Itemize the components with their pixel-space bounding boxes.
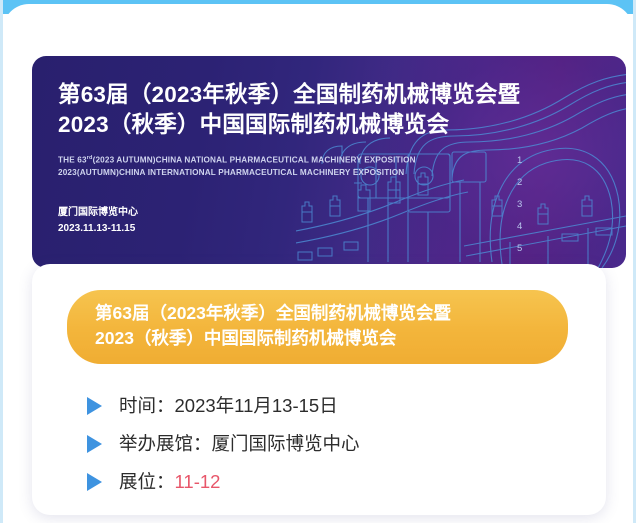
triangle-bullet-icon [87, 397, 102, 415]
banner-subtitle-block: THE 63rd(2023 AUTUMN)CHINA NATIONAL PHAR… [58, 154, 488, 180]
detail-time-value: 2023年11月13-15日 [175, 395, 338, 416]
event-info-card: 第63届（2023年秋季）全国制药机械博览会暨 2023（秋季）中国国际制药机械… [32, 264, 606, 515]
detail-booth: 展位：11-12 [119, 473, 220, 492]
banner-venue-block: 厦门国际博览中心 2023.11.13-11.15 [58, 205, 488, 237]
detail-booth-value: 11-12 [175, 471, 221, 492]
detail-venue: 举办展馆：厦门国际博览中心 [119, 435, 360, 454]
detail-venue-value: 厦门国际博览中心 [212, 433, 360, 454]
exhibition-info-page: 第63届（2023年秋季）全国制药机械博览会暨 2023（秋季）中国国际制药机械… [0, 0, 636, 523]
event-detail-list: 时间：2023年11月13-15日 举办展馆：厦门国际博览中心 展位：11-12 [87, 387, 587, 501]
banner-subtitle-line1: THE 63rd(2023 AUTUMN)CHINA NATIONAL PHAR… [58, 154, 488, 167]
badge-line1: 第63届（2023年秋季）全国制药机械博览会暨 [95, 301, 540, 326]
banner-venue-name: 厦门国际博览中心 [58, 205, 488, 221]
banner-dates: 2023.11.13-11.15 [58, 221, 488, 237]
detail-time-label: 时间： [119, 395, 175, 416]
detail-time: 时间：2023年11月13-15日 [119, 397, 338, 416]
badge-line2: 2023（秋季）中国国际制药机械博览会 [95, 326, 540, 351]
list-item-venue: 举办展馆：厦门国际博览中心 [87, 425, 587, 463]
banner-subtitle-line1-post: (2023 AUTUMN)CHINA NATIONAL PHARMACEUTIC… [93, 156, 416, 165]
banner-text-block: 第63届（2023年秋季）全国制药机械博览会暨 2023（秋季）中国国际制药机械… [58, 80, 488, 237]
triangle-bullet-icon [87, 473, 102, 491]
list-item-time: 时间：2023年11月13-15日 [87, 387, 587, 425]
event-name-badge: 第63届（2023年秋季）全国制药机械博览会暨 2023（秋季）中国国际制药机械… [67, 290, 568, 364]
triangle-bullet-icon [87, 435, 102, 453]
detail-venue-label: 举办展馆： [119, 433, 212, 454]
event-banner: 第63届（2023年秋季）全国制药机械博览会暨 2023（秋季）中国国际制药机械… [32, 56, 626, 268]
banner-subtitle-line2: 2023(AUTUMN)CHINA INTERNATIONAL PHARMACE… [58, 167, 488, 180]
banner-title-line2: 2023（秋季）中国国际制药机械博览会 [58, 110, 488, 140]
detail-booth-label: 展位： [119, 471, 175, 492]
list-item-booth: 展位：11-12 [87, 463, 587, 501]
banner-subtitle-line1-pre: THE 63 [58, 156, 87, 165]
banner-title-line1: 第63届（2023年秋季）全国制药机械博览会暨 [58, 80, 488, 110]
